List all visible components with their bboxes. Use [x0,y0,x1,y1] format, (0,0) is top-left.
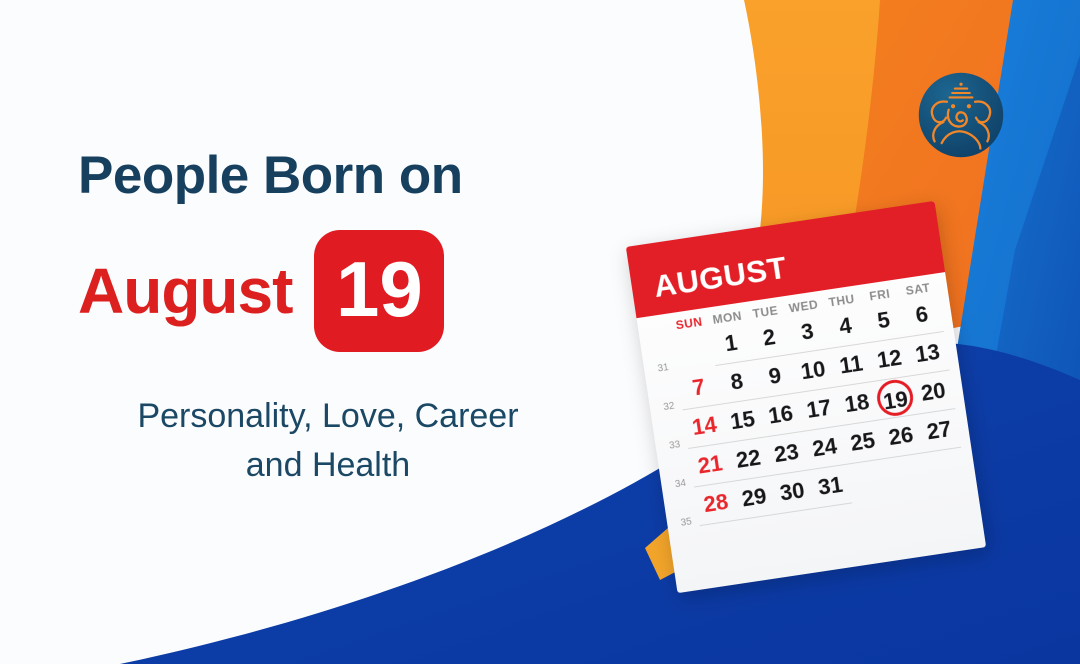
calendar-day: 22 [726,437,770,481]
calendar-day: 1 [709,322,753,366]
calendar-day: 23 [765,431,809,475]
calendar-day: 12 [867,337,911,381]
calendar-day: 27 [917,409,961,453]
calendar-day-empty [923,447,967,491]
calendar-day: 10 [791,349,835,393]
page-title: People Born on [78,148,638,204]
calendar-grid: SUN MON TUE WED THU FRI SAT 311234563278… [643,279,967,529]
ganesha-logo-icon [917,71,1005,159]
calendar-weeks: 3112345632789101112133314151617181920342… [645,293,966,529]
banner-stage: People Born on August 19 Personality, Lo… [0,0,1080,664]
calendar-day: 26 [879,414,923,458]
hero-copy: People Born on August 19 Personality, Lo… [78,148,638,490]
subtitle: Personality, Love, Career and Health [78,392,578,491]
subtitle-line-2: and Health [246,446,410,484]
calendar-day: 29 [732,476,776,520]
calendar-day: 6 [900,293,944,337]
month-day-row: August 19 [78,230,638,352]
calendar-day: 11 [829,343,873,387]
calendar-illustration: AUGUST SUN MON TUE WED THU FRI SAT [626,201,986,593]
calendar-day: 20 [911,370,955,414]
calendar-day-empty [671,328,715,372]
calendar-day: 14 [683,404,727,448]
calendar-day: 13 [906,331,950,375]
calendar-day: 3 [786,310,830,354]
month-label: August [78,259,292,323]
calendar-day: 30 [770,470,814,514]
calendar-day: 15 [721,398,765,442]
day-badge: 19 [314,230,444,352]
calendar-day: 25 [841,420,885,464]
calendar-day: 4 [824,305,868,349]
calendar-day: 17 [797,387,841,431]
calendar-day: 21 [688,443,732,487]
calendar-day: 28 [694,481,738,525]
calendar-day: 16 [759,393,803,437]
calendar-day: 9 [753,354,797,398]
calendar-day: 7 [677,366,721,410]
subtitle-line-1: Personality, Love, Career [137,397,518,435]
calendar-day: 24 [803,426,847,470]
calendar-day-empty [847,459,891,503]
calendar-day-empty [885,453,929,497]
calendar-day: 31 [808,464,852,508]
calendar-day: 2 [747,316,791,360]
calendar-day: 8 [715,360,759,404]
calendar-day: 5 [862,299,906,343]
calendar-day: 18 [835,381,879,425]
calendar-month-title: AUGUST [651,250,789,305]
highlighted-day-circle: 19 [875,377,916,418]
calendar-day: 19 [873,376,917,420]
